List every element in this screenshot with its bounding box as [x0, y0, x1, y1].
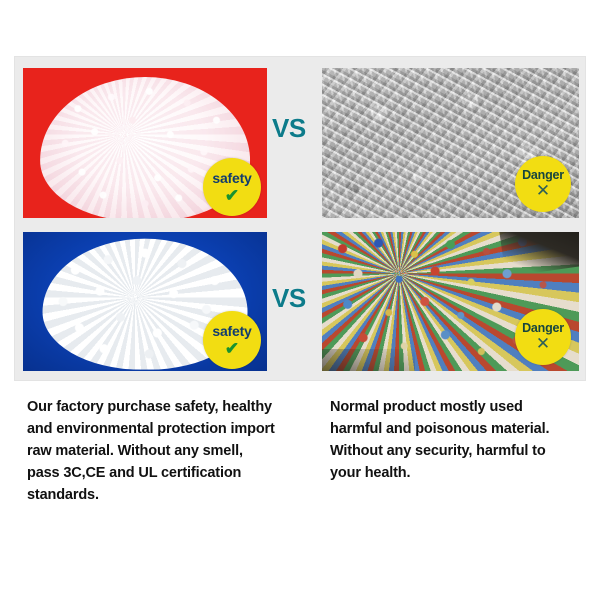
- comparison-frame: safety ✔ Danger ✕ safety ✔: [14, 56, 586, 381]
- photo-shadow-bottom: [322, 349, 415, 371]
- photo-panel-good-bottom: safety ✔: [23, 232, 267, 371]
- check-icon: ✔: [225, 187, 239, 204]
- caption-bad-product: Normal product mostly used harmful and p…: [330, 396, 575, 484]
- danger-badge-top: Danger ✕: [515, 156, 571, 212]
- safety-badge-label: safety: [212, 171, 251, 185]
- vs-label-top: VS: [272, 113, 306, 144]
- comparison-infographic: safety ✔ Danger ✕ safety ✔: [0, 0, 600, 600]
- cross-icon: ✕: [536, 335, 550, 352]
- photo-shadow-corner: [499, 232, 579, 277]
- photo-panel-good-top: safety ✔: [23, 68, 267, 218]
- danger-badge-bottom: Danger ✕: [515, 309, 571, 365]
- cross-icon: ✕: [536, 182, 550, 199]
- safety-badge-top: safety ✔: [203, 158, 261, 216]
- photo-panel-bad-bottom: Danger ✕: [322, 232, 579, 371]
- danger-badge-label: Danger: [522, 169, 564, 182]
- vs-label-bottom: VS: [272, 283, 306, 314]
- safety-badge-label: safety: [212, 324, 251, 338]
- photo-panel-bad-top: Danger ✕: [322, 68, 579, 218]
- caption-good-product: Our factory purchase safety, healthy and…: [27, 396, 279, 506]
- danger-badge-label: Danger: [522, 322, 564, 335]
- safety-badge-bottom: safety ✔: [203, 311, 261, 369]
- check-icon: ✔: [225, 340, 239, 357]
